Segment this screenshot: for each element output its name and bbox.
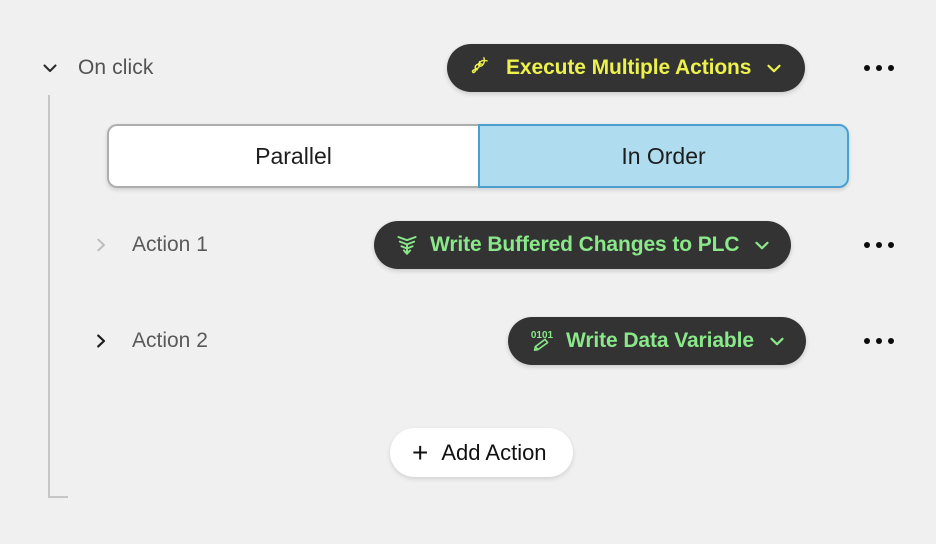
- add-action-button[interactable]: + Add Action: [390, 428, 573, 477]
- action-row-2-label: Action 2: [132, 329, 208, 353]
- dot: [888, 242, 894, 248]
- action-row-1: Action 1: [88, 225, 208, 265]
- chevron-down-icon[interactable]: [36, 54, 64, 82]
- plus-icon: +: [412, 439, 428, 467]
- write-data-variable-icon-text: 0101: [531, 330, 554, 341]
- execution-mode-toggle[interactable]: Parallel In Order: [107, 124, 849, 188]
- tree-connector-line: [48, 95, 50, 498]
- action-row-1-label: Action 1: [132, 233, 208, 257]
- page-title: On click: [78, 56, 153, 80]
- mode-option-in-order-label: In Order: [621, 143, 705, 170]
- execute-multiple-actions-label: Execute Multiple Actions: [506, 56, 751, 80]
- execute-multiple-actions-button[interactable]: Execute Multiple Actions: [447, 44, 805, 92]
- dot: [876, 65, 882, 71]
- tree-connector-foot: [48, 496, 68, 498]
- ellipsis-icon[interactable]: [858, 225, 900, 265]
- chevron-down-icon[interactable]: [751, 234, 773, 256]
- write-buffered-changes-icon: [394, 232, 420, 258]
- multiple-actions-icon: [469, 55, 495, 81]
- dot: [864, 65, 870, 71]
- dot: [888, 65, 894, 71]
- mode-option-parallel[interactable]: Parallel: [107, 124, 478, 188]
- ellipsis-icon[interactable]: [858, 321, 900, 361]
- ellipsis-icon[interactable]: [858, 48, 900, 88]
- dot: [864, 242, 870, 248]
- action-row-2: Action 2: [88, 321, 208, 361]
- mode-option-parallel-label: Parallel: [255, 143, 332, 170]
- dot: [876, 338, 882, 344]
- action-editor-panel: On click Execute Multiple Actions: [0, 0, 936, 544]
- chevron-down-icon[interactable]: [763, 57, 785, 79]
- write-data-variable-icon: 0101: [528, 328, 556, 354]
- write-data-variable-button[interactable]: 0101 Write Data Variable: [508, 317, 806, 365]
- chevron-right-icon[interactable]: [88, 328, 114, 354]
- write-buffered-changes-to-plc-button[interactable]: Write Buffered Changes to PLC: [374, 221, 791, 269]
- dot: [876, 242, 882, 248]
- chevron-right-icon[interactable]: [88, 232, 114, 258]
- dot: [864, 338, 870, 344]
- mode-option-in-order[interactable]: In Order: [478, 124, 849, 188]
- chevron-down-icon[interactable]: [766, 330, 788, 352]
- write-buffered-changes-to-plc-label: Write Buffered Changes to PLC: [430, 233, 739, 257]
- dot: [888, 338, 894, 344]
- add-action-label: Add Action: [441, 440, 546, 466]
- write-data-variable-label: Write Data Variable: [566, 329, 754, 353]
